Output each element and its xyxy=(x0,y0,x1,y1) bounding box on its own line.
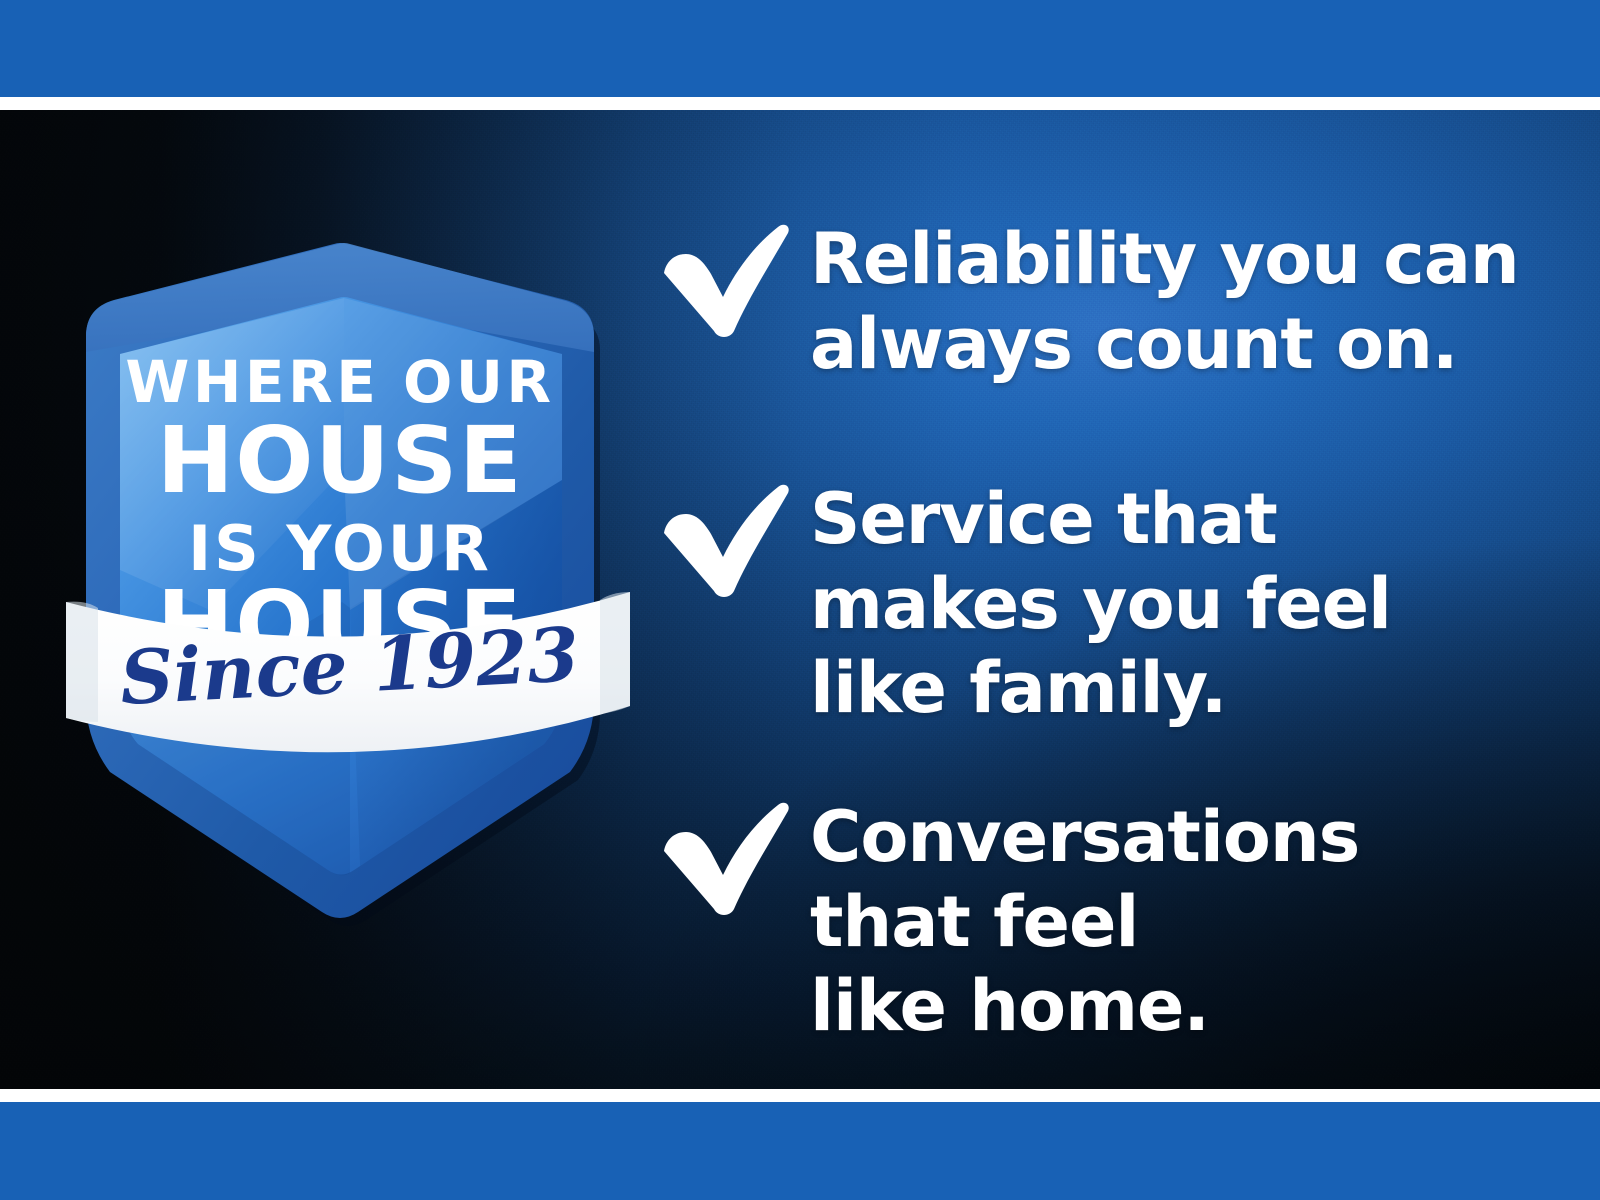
benefits-list: Reliability you can always count on. Ser… xyxy=(660,110,1560,1089)
benefit-text: Service that makes you feel like family. xyxy=(810,477,1560,731)
badge-ribbon-fold-right xyxy=(600,592,630,714)
benefit-item: Service that makes you feel like family. xyxy=(660,477,1560,731)
badge-ribbon-fold-left xyxy=(66,602,98,722)
bottom-brand-bar xyxy=(0,1102,1600,1200)
logo-line-1: WHERE OUR xyxy=(125,348,554,416)
check-icon xyxy=(660,795,810,917)
logo-line-2: HOUSE xyxy=(157,407,524,514)
company-logo-badge: WHERE OUR HOUSE IS YOUR HOUSE Since 1923 xyxy=(50,140,650,960)
top-brand-bar xyxy=(0,0,1600,97)
benefit-text: Reliability you can always count on. xyxy=(810,217,1560,386)
check-icon xyxy=(660,217,810,339)
benefit-item: Reliability you can always count on. xyxy=(660,217,1560,386)
benefit-text: Conversations that feel like home. xyxy=(810,795,1560,1049)
check-icon xyxy=(660,477,810,599)
promo-banner: WHERE OUR HOUSE IS YOUR HOUSE Since 1923… xyxy=(0,0,1600,1200)
benefit-item: Conversations that feel like home. xyxy=(660,795,1560,1049)
